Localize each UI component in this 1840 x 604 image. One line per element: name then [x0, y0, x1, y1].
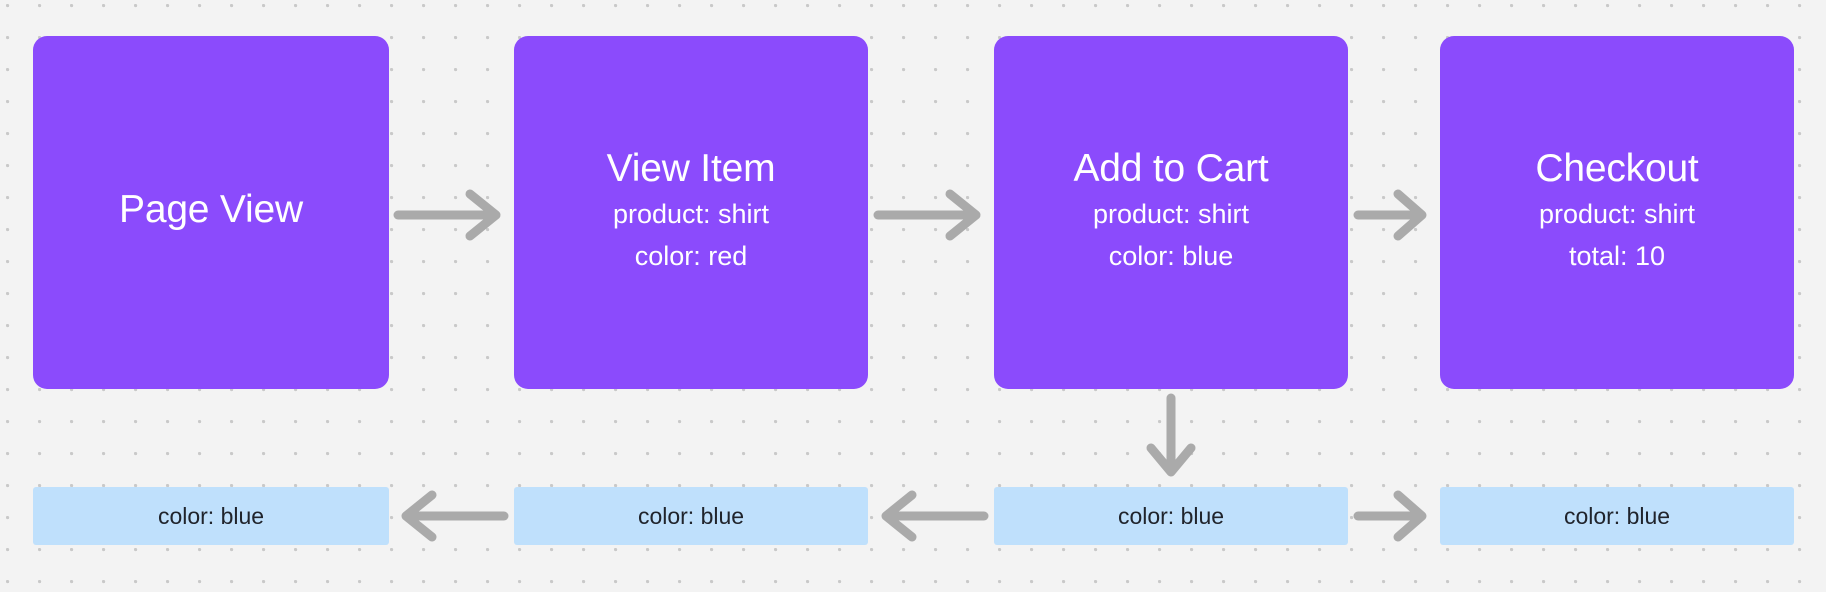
node-property: color: blue: [1109, 236, 1234, 278]
node-property: total: 10: [1569, 236, 1665, 278]
flow-node-view-item[interactable]: View Item product: shirt color: red: [514, 36, 868, 389]
chip-label: color: blue: [158, 503, 264, 530]
node-title: View Item: [607, 148, 776, 190]
node-title: Checkout: [1535, 148, 1698, 190]
node-property: product: shirt: [613, 194, 769, 236]
node-property: color: red: [635, 236, 748, 278]
chip-label: color: blue: [1564, 503, 1670, 530]
node-property: product: shirt: [1093, 194, 1249, 236]
chip-label: color: blue: [638, 503, 744, 530]
chip-label: color: blue: [1118, 503, 1224, 530]
property-chip-2[interactable]: color: blue: [514, 487, 868, 545]
property-chip-1[interactable]: color: blue: [33, 487, 389, 545]
node-title: Page View: [119, 189, 303, 231]
property-chip-4[interactable]: color: blue: [1440, 487, 1794, 545]
node-properties: product: shirt color: red: [613, 194, 769, 278]
flow-diagram-canvas: Page View View Item product: shirt color…: [0, 0, 1840, 604]
flow-node-checkout[interactable]: Checkout product: shirt total: 10: [1440, 36, 1794, 389]
node-property: product: shirt: [1539, 194, 1695, 236]
property-chip-3[interactable]: color: blue: [994, 487, 1348, 545]
flow-node-page-view[interactable]: Page View: [33, 36, 389, 389]
flow-node-add-to-cart[interactable]: Add to Cart product: shirt color: blue: [994, 36, 1348, 389]
node-title: Add to Cart: [1073, 148, 1268, 190]
node-properties: product: shirt total: 10: [1539, 194, 1695, 278]
node-properties: product: shirt color: blue: [1093, 194, 1249, 278]
